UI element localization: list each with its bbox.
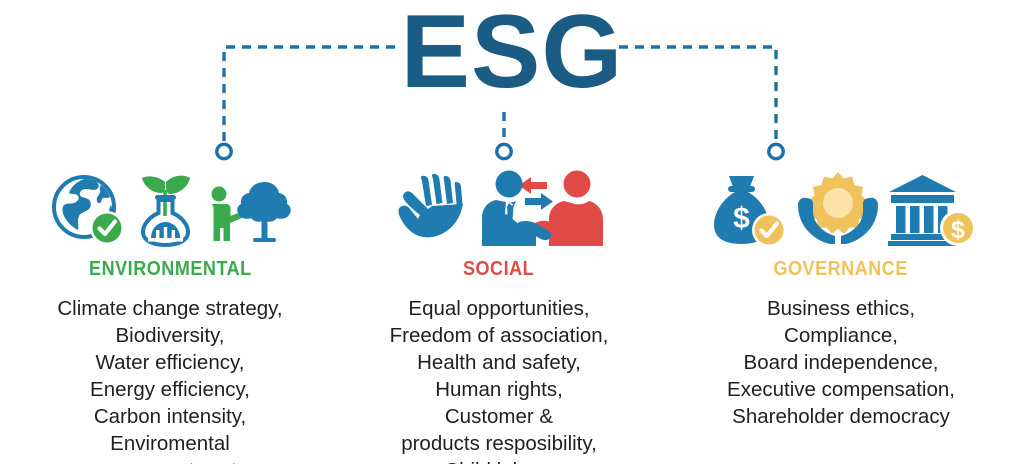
money-bag-check-icon: $ xyxy=(706,170,790,248)
arrow-right-blue xyxy=(525,193,553,210)
environmental-icon-row xyxy=(49,168,291,248)
environmental-description: Climate change strategy, Biodiversity, W… xyxy=(57,295,282,464)
pillar-columns: ENVIRONMENTAL Climate change strategy, B… xyxy=(0,168,1024,464)
arrow-left-red xyxy=(519,177,547,194)
esg-infographic: ESG xyxy=(0,0,1024,464)
hands-gear-icon xyxy=(792,170,884,248)
handshake-exchange-icon xyxy=(475,168,609,248)
page-title: ESG xyxy=(0,0,1024,108)
svg-text:$: $ xyxy=(951,216,965,244)
tree-shape xyxy=(237,182,290,242)
pillar-environmental: ENVIRONMENTAL Climate change strategy, B… xyxy=(0,168,340,464)
pillar-governance: $ xyxy=(658,168,1024,430)
governance-description: Business ethics, Compliance, Board indep… xyxy=(727,295,955,430)
bank-dollar-icon: $ xyxy=(886,170,976,248)
heading-environmental: ENVIRONMENTAL xyxy=(89,258,252,281)
connector-endpoint-left xyxy=(217,144,231,158)
globe-check-icon xyxy=(49,172,127,248)
connector-endpoint-right xyxy=(769,144,783,158)
connector-endpoint-center xyxy=(497,144,511,158)
plant-flask-gear-icon xyxy=(129,168,201,248)
social-description: Equal opportunities, Freedom of associat… xyxy=(390,295,609,464)
helping-hands-icon xyxy=(389,170,473,248)
governance-icon-row: $ xyxy=(706,168,976,248)
social-icon-row xyxy=(389,168,609,248)
heading-social: SOCIAL xyxy=(463,258,534,281)
pillar-social: SOCIAL Equal opportunities, Freedom of a… xyxy=(340,168,658,464)
heading-governance: GOVERNANCE xyxy=(774,258,908,281)
person-tree-icon xyxy=(203,172,291,248)
svg-text:$: $ xyxy=(733,202,750,235)
